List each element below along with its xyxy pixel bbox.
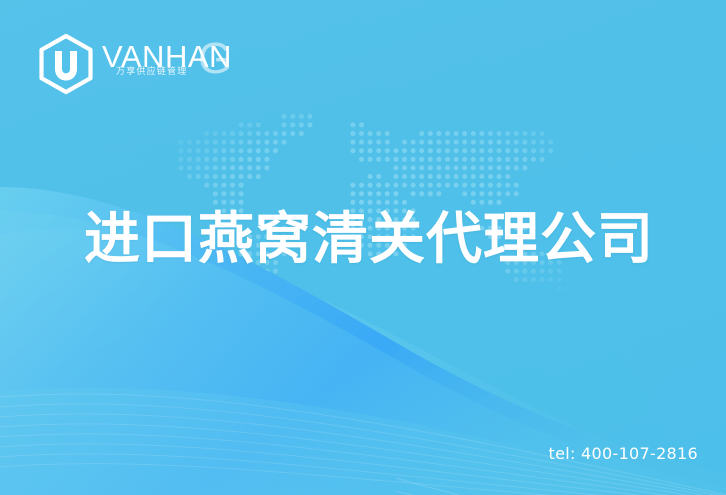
wordmark-tail-g: G: [198, 37, 232, 81]
brand-subtitle: 万享供应链管理: [116, 64, 187, 77]
brand-logo: VANHAN G 万享供应链管理: [36, 32, 232, 96]
contact-phone: tel: 400-107-2816: [549, 444, 698, 463]
page-title: 进口燕窝清关代理公司: [84, 206, 654, 274]
hexagon-v-shield-icon: [36, 33, 96, 95]
brand-wordmark: VANHAN G 万享供应链管理: [102, 40, 232, 88]
promo-banner: VANHAN G 万享供应链管理 进口燕窝清关代理公司 tel: 400-107…: [0, 0, 726, 495]
